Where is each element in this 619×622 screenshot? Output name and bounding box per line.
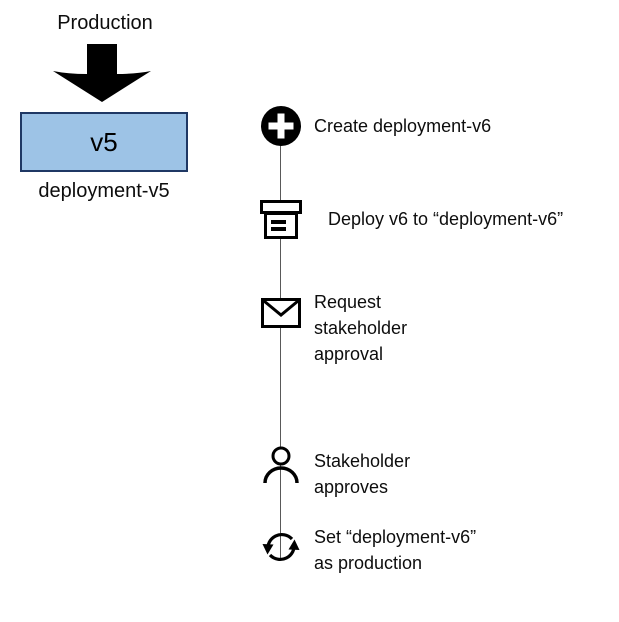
step-label: Create deployment-v6: [314, 113, 491, 139]
plus-circle-icon: [260, 105, 302, 147]
envelope-icon: [260, 292, 302, 334]
refresh-cycle-icon: [260, 526, 302, 568]
production-version-caption: deployment-v5: [20, 178, 188, 204]
diagram-canvas: Production v5 deployment-v5 Create deplo…: [0, 0, 619, 622]
server-box-icon: [260, 198, 302, 240]
step-label: Request stakeholder approval: [314, 289, 407, 367]
step-flow: Create deployment-v6 Deploy v6 to “deplo…: [250, 105, 610, 605]
production-label: Production: [20, 10, 190, 36]
down-arrow-icon: [52, 44, 152, 102]
step-label: Stakeholder approves: [314, 448, 410, 500]
person-icon: [260, 443, 302, 485]
production-version-value: v5: [90, 127, 117, 157]
step-label: Set “deployment-v6” as production: [314, 524, 476, 576]
step-label: Deploy v6 to “deployment-v6”: [328, 206, 563, 232]
production-version-box[interactable]: v5: [20, 112, 188, 172]
